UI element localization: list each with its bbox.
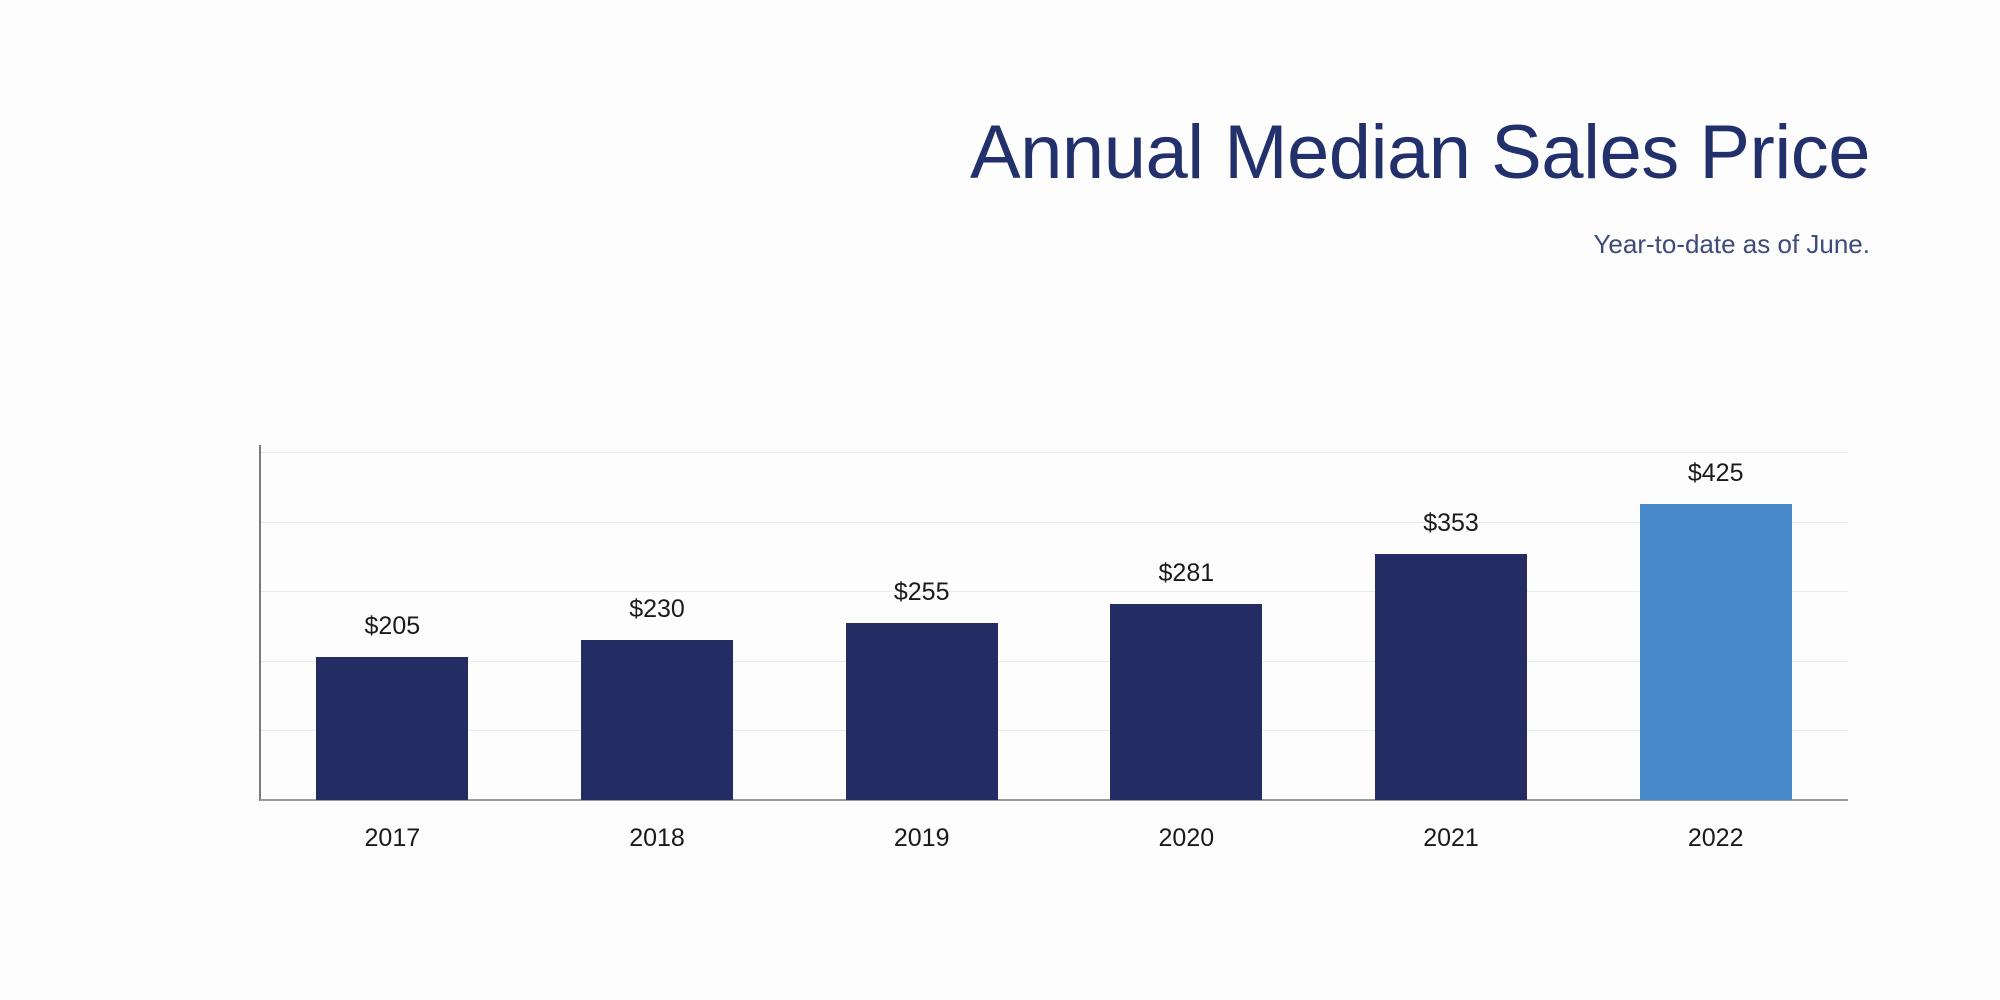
x-axis-tick-label-2020: 2020	[1159, 824, 1215, 853]
bar-2018[interactable]	[581, 640, 733, 800]
bar-2019[interactable]	[846, 623, 998, 800]
x-axis-tick-label-2021: 2021	[1423, 824, 1479, 853]
bar-value-label-2018: $230	[629, 595, 685, 624]
x-axis-tick-label-2022: 2022	[1688, 824, 1744, 853]
bar-group-2019: $2552019	[789, 452, 1054, 800]
bar-group-2022: $4252022	[1583, 452, 1848, 800]
bar-chart: $0K$100K$200K$300K$400K$500K $2052017$23…	[0, 0, 2000, 1000]
bar-2017[interactable]	[316, 657, 468, 800]
bar-2020[interactable]	[1110, 604, 1262, 800]
bar-series: $2052017$2302018$2552019$2812020$3532021…	[260, 452, 1848, 800]
bar-value-label-2021: $353	[1423, 509, 1479, 538]
bar-group-2017: $2052017	[260, 452, 525, 800]
bar-group-2021: $3532021	[1319, 452, 1584, 800]
bar-value-label-2020: $281	[1159, 559, 1215, 588]
x-axis-tick-label-2019: 2019	[894, 824, 950, 853]
bar-value-label-2022: $425	[1688, 459, 1744, 488]
bar-2021[interactable]	[1375, 554, 1527, 800]
x-axis-tick-label-2017: 2017	[365, 824, 421, 853]
bar-group-2020: $2812020	[1054, 452, 1319, 800]
bar-group-2018: $2302018	[525, 452, 790, 800]
bar-2022[interactable]	[1640, 504, 1792, 800]
x-axis-tick-label-2018: 2018	[629, 824, 685, 853]
bar-value-label-2019: $255	[894, 578, 950, 607]
bar-value-label-2017: $205	[365, 612, 421, 641]
